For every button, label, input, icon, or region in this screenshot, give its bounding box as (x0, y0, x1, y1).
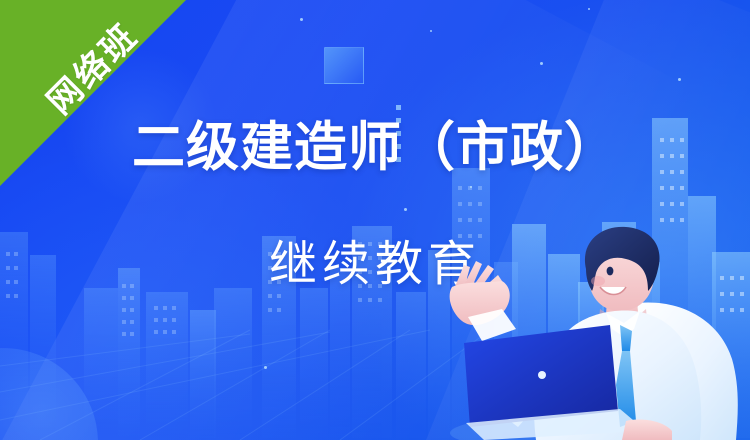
particle-dot (588, 8, 590, 10)
businessman-illustration (420, 225, 750, 440)
particle-dot (540, 62, 543, 65)
businessman-with-laptop-graphic (420, 225, 750, 440)
perspective-grid (0, 330, 490, 440)
particle-dot (264, 366, 267, 369)
skyline-left (0, 226, 392, 438)
course-banner: 网络班 二级建造师（市政） 继续教育 (0, 0, 750, 440)
deco-square-icon (324, 47, 364, 84)
particle-dot (338, 128, 340, 130)
laptop-camera-dot (538, 371, 546, 379)
deco-dotted-column (396, 105, 401, 162)
glow-circle-bottom-left (0, 348, 98, 440)
cheek (591, 276, 605, 286)
corner-ribbon[interactable]: 网络班 (0, 0, 186, 186)
particle-dot (470, 186, 472, 188)
particle-dot (430, 30, 432, 32)
particle-dot (300, 18, 303, 21)
eye (607, 267, 614, 276)
building-windows (6, 186, 482, 336)
particle-dot (678, 78, 681, 81)
particle-dot (404, 208, 407, 211)
